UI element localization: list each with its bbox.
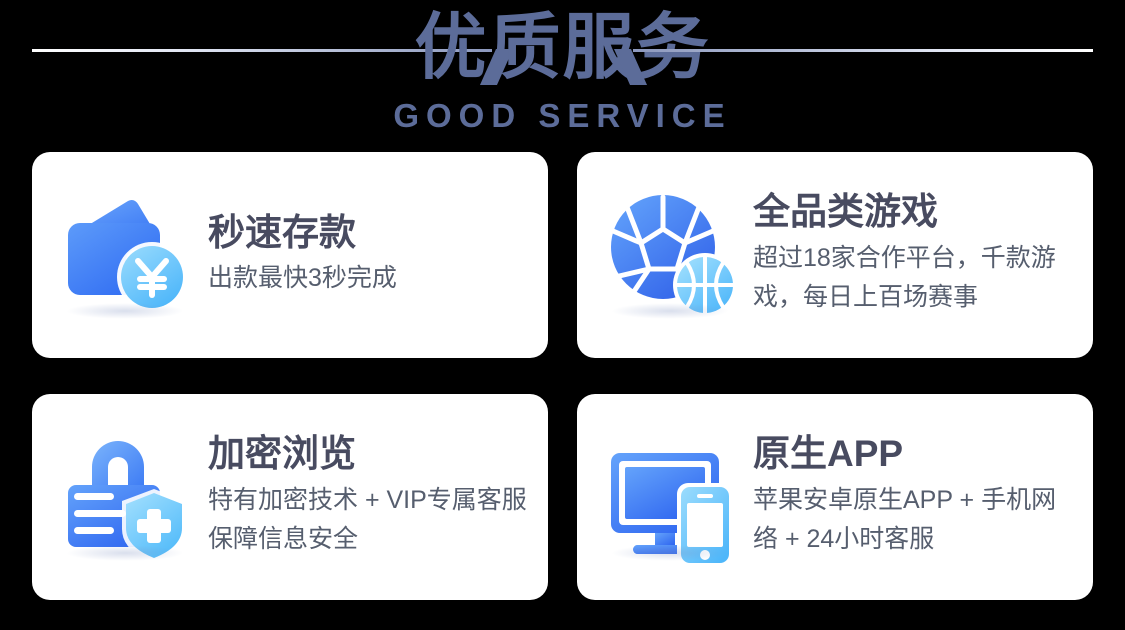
page-subtitle: GOOD SERVICE — [0, 97, 1125, 135]
icon-shadow — [66, 303, 184, 319]
card-title: 加密浏览 — [208, 431, 534, 477]
wallet-yen-icon — [58, 185, 198, 325]
feature-card-grid: 秒速存款 出款最快3秒完成 — [32, 152, 1093, 600]
feature-card-games[interactable]: 全品类游戏 超过18家合作平台，千款游戏，每日上百场赛事 — [577, 152, 1093, 358]
card-title: 全品类游戏 — [753, 189, 1079, 235]
feature-card-encryption[interactable]: 加密浏览 特有加密技术 + VIP专属客服保障信息安全 — [32, 394, 548, 600]
lock-shield-icon — [58, 427, 198, 567]
card-description: 特有加密技术 + VIP专属客服保障信息安全 — [208, 481, 534, 559]
icon-shadow — [66, 545, 184, 561]
card-description: 超过18家合作平台，千款游戏，每日上百场赛事 — [753, 239, 1079, 317]
card-text-block: 秒速存款 出款最快3秒完成 — [198, 210, 534, 300]
monitor-phone-icon — [603, 427, 743, 567]
card-text-block: 原生APP 苹果安卓原生APP + 手机网络 + 24小时客服 — [743, 431, 1079, 563]
card-description: 出款最快3秒完成 — [208, 260, 534, 296]
feature-card-native-app[interactable]: 原生APP 苹果安卓原生APP + 手机网络 + 24小时客服 — [577, 394, 1093, 600]
card-description: 苹果安卓原生APP + 手机网络 + 24小时客服 — [753, 481, 1079, 559]
icon-shadow — [611, 303, 729, 319]
card-text-block: 全品类游戏 超过18家合作平台，千款游戏，每日上百场赛事 — [743, 189, 1079, 321]
decorative-rule-right-icon — [633, 49, 1093, 52]
feature-card-deposit[interactable]: 秒速存款 出款最快3秒完成 — [32, 152, 548, 358]
soccer-basketball-icon — [603, 185, 743, 325]
card-title: 原生APP — [753, 431, 1079, 477]
page-root: 优质服务 GOOD SERVICE — [0, 0, 1125, 630]
card-title: 秒速存款 — [208, 210, 534, 256]
icon-shadow — [611, 545, 729, 561]
page-header: 优质服务 GOOD SERVICE — [0, 0, 1125, 150]
page-title: 优质服务 — [0, 6, 1125, 90]
card-text-block: 加密浏览 特有加密技术 + VIP专属客服保障信息安全 — [198, 431, 534, 563]
